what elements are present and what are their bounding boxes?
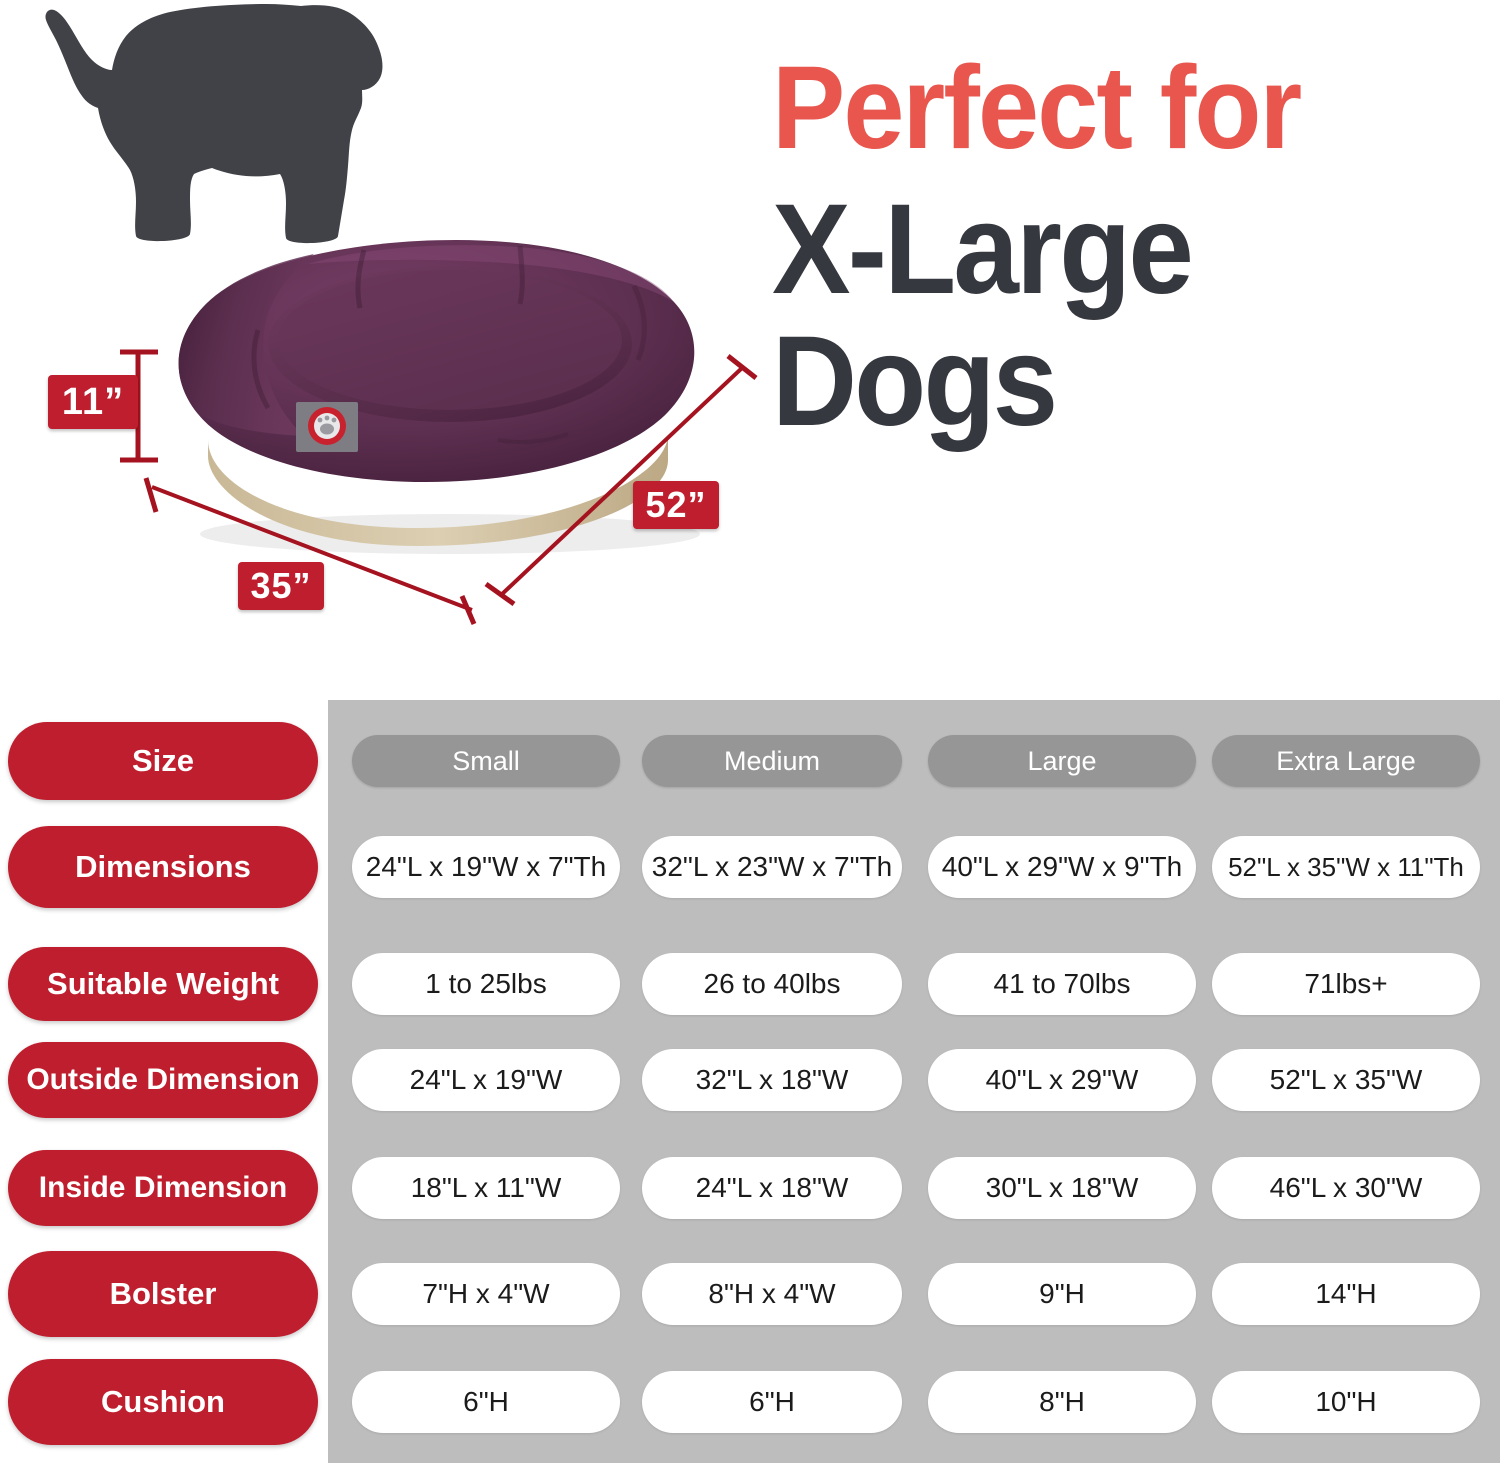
table-cell: 9"H xyxy=(928,1263,1196,1325)
table-cell: 24"L x 18"W xyxy=(642,1157,902,1219)
headline-line-1: Perfect for xyxy=(772,52,1442,165)
column-header-small: Small xyxy=(352,735,620,787)
table-cell: 10"H xyxy=(1212,1371,1480,1433)
table-cell: 52"L x 35"W xyxy=(1212,1049,1480,1111)
table-cell: 40"L x 29"W x 9"Th xyxy=(928,836,1196,898)
headline-line-3: Dogs xyxy=(772,319,1434,444)
hero-section: 11” 35” 52” Perfect for X-Large Dogs xyxy=(0,0,1500,690)
spec-table-row-labels: SizeDimensionsSuitable WeightOutside Dim… xyxy=(8,700,320,1463)
table-cell: 8"H xyxy=(928,1371,1196,1433)
table-cell: 24"L x 19"W x 7"Th xyxy=(352,836,620,898)
row-label-cushion: Cushion xyxy=(8,1359,318,1445)
table-cell: 6"H xyxy=(642,1371,902,1433)
dimension-label-length: 52” xyxy=(633,481,719,529)
table-cell: 52"L x 35"W x 11"Th xyxy=(1212,836,1480,898)
headline-line-2: X-Large xyxy=(772,187,1434,312)
table-cell: 8"H x 4"W xyxy=(642,1263,902,1325)
table-cell: 46"L x 30"W xyxy=(1212,1157,1480,1219)
column-header-medium: Medium xyxy=(642,735,902,787)
row-label-bolster: Bolster xyxy=(8,1251,318,1337)
column-header-extra-large: Extra Large xyxy=(1212,735,1480,787)
row-label-dimensions: Dimensions xyxy=(8,826,318,908)
spec-table-panel: SmallMediumLargeExtra Large24"L x 19"W x… xyxy=(328,700,1500,1463)
table-cell: 14"H xyxy=(1212,1263,1480,1325)
row-label-size: Size xyxy=(8,722,318,800)
table-cell: 30"L x 18"W xyxy=(928,1157,1196,1219)
dimension-label-width: 35” xyxy=(238,562,324,610)
table-cell: 32"L x 18"W xyxy=(642,1049,902,1111)
table-cell: 40"L x 29"W xyxy=(928,1049,1196,1111)
row-label-inside-dimension: Inside Dimension xyxy=(8,1150,318,1226)
column-header-large: Large xyxy=(928,735,1196,787)
row-label-suitable-weight: Suitable Weight xyxy=(8,947,318,1021)
table-cell: 24"L x 19"W xyxy=(352,1049,620,1111)
table-cell: 18"L x 11"W xyxy=(352,1157,620,1219)
page-title: Perfect for X-Large Dogs xyxy=(772,52,1492,444)
table-cell: 41 to 70lbs xyxy=(928,953,1196,1015)
table-cell: 1 to 25lbs xyxy=(352,953,620,1015)
brand-tag xyxy=(296,402,358,452)
table-cell: 32"L x 23"W x 7"Th xyxy=(642,836,902,898)
row-label-outside-dimension: Outside Dimension xyxy=(8,1042,318,1118)
table-cell: 26 to 40lbs xyxy=(642,953,902,1015)
table-cell: 6"H xyxy=(352,1371,620,1433)
table-cell: 71lbs+ xyxy=(1212,953,1480,1015)
table-cell: 7"H x 4"W xyxy=(352,1263,620,1325)
dimension-label-height: 11” xyxy=(48,375,138,429)
